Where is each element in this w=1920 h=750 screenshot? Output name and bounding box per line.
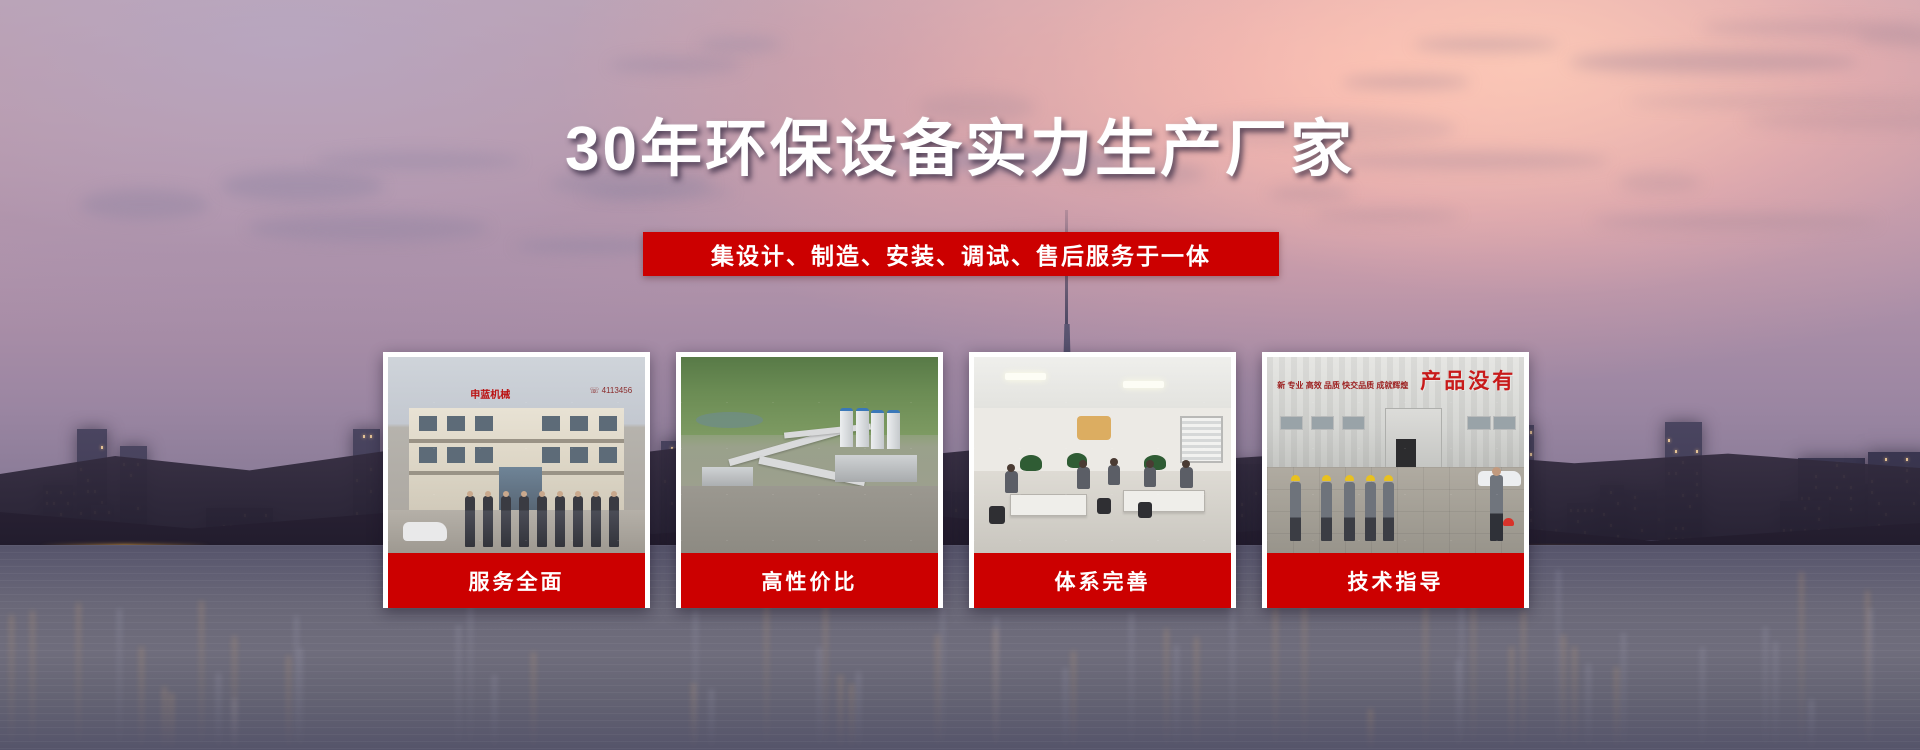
card-photo-aerial-factory xyxy=(681,357,938,553)
card-label-1: 服务全面 xyxy=(388,553,645,608)
hero-banner: 30年环保设备实力生产厂家 集设计、制造、安装、调试、售后服务于一体 xyxy=(0,0,1920,750)
card-photo-company-building: 申蓝机械 ☏ 4113456 xyxy=(388,357,645,553)
feature-card-1[interactable]: 申蓝机械 ☏ 4113456 服务全面 xyxy=(383,352,650,608)
watermark-overlay xyxy=(1267,357,1524,553)
feature-card-list: 申蓝机械 ☏ 4113456 服务全面 xyxy=(383,352,1543,608)
card-label-text: 高性价比 xyxy=(762,566,858,596)
card-label-text: 体系完善 xyxy=(1055,566,1151,596)
card-photo-office-interior xyxy=(974,357,1231,553)
card-label-3: 体系完善 xyxy=(974,553,1231,608)
subtitle-text: 集设计、制造、安装、调试、售后服务于一体 xyxy=(711,237,1211,271)
card-label-2: 高性价比 xyxy=(681,553,938,608)
watermark-overlay xyxy=(388,357,645,553)
card-label-4: 技术指导 xyxy=(1267,553,1524,608)
watermark-overlay xyxy=(681,357,938,553)
card-label-text: 服务全面 xyxy=(469,566,565,596)
feature-card-4[interactable]: 产品没有 新 专业 高效 品质 快交品质 成就辉煌 xyxy=(1262,352,1529,608)
feature-card-3[interactable]: 体系完善 xyxy=(969,352,1236,608)
subtitle-bar: 集设计、制造、安装、调试、售后服务于一体 xyxy=(643,232,1279,276)
card-label-text: 技术指导 xyxy=(1348,566,1444,596)
page-title: 30年环保设备实力生产厂家 xyxy=(0,98,1920,188)
card-photo-factory-workers: 产品没有 新 专业 高效 品质 快交品质 成就辉煌 xyxy=(1267,357,1524,553)
watermark-overlay xyxy=(974,357,1231,553)
feature-card-2[interactable]: 高性价比 xyxy=(676,352,943,608)
